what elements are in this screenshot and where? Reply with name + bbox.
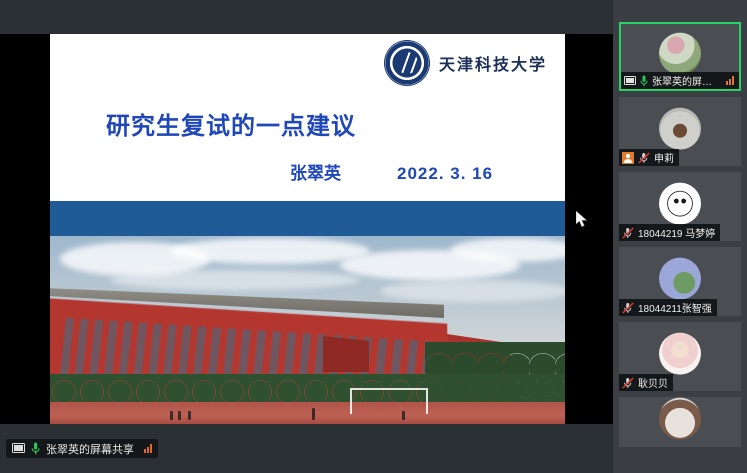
- campus-photo: [50, 236, 565, 424]
- microphone-icon: [31, 442, 40, 455]
- university-crest-icon: [384, 40, 430, 86]
- sketch-face-avatar: [659, 182, 701, 224]
- person-figure: [188, 411, 191, 420]
- slide-title: 研究生复试的一点建议: [106, 106, 356, 141]
- slide-header-area: 天津科技大学 研究生复试的一点建议 张翠英 2022. 3. 16: [50, 34, 565, 201]
- participant-name-1: 申莉: [654, 150, 674, 165]
- microphone-on-icon: [640, 75, 648, 87]
- frog-moon-avatar: [659, 257, 701, 299]
- flower-bouquet-avatar: [659, 32, 701, 74]
- participant-tile-0[interactable]: 张翠英的屏幕...: [619, 22, 741, 91]
- signal-bars-icon: [722, 76, 734, 85]
- signal-bars-icon: [140, 444, 152, 453]
- person-figure: [170, 411, 173, 420]
- microphone-muted-icon: [622, 377, 634, 389]
- running-track: [50, 402, 565, 424]
- shared-screen-stage[interactable]: 天津科技大学 研究生复试的一点建议 张翠英 2022. 3. 16: [0, 34, 613, 424]
- bottom-taskbar: 张翠英的屏幕共享: [0, 424, 613, 473]
- person-avatar: [659, 398, 701, 440]
- microphone-muted-icon: [622, 227, 634, 239]
- participant-tile-1[interactable]: 申莉: [619, 97, 741, 166]
- participant-name-2: 18044219 马梦婷: [638, 225, 715, 240]
- host-person-icon: [622, 152, 634, 164]
- portrait-avatar: [659, 107, 701, 149]
- screen-share-status[interactable]: 张翠英的屏幕共享: [6, 439, 158, 458]
- participant-label-bar-3: 18044211张智强: [619, 299, 717, 316]
- person-figure: [178, 411, 181, 420]
- presentation-slide: 天津科技大学 研究生复试的一点建议 张翠英 2022. 3. 16: [50, 34, 565, 424]
- meeting-window: 天津科技大学 研究生复试的一点建议 张翠英 2022. 3. 16: [0, 0, 747, 473]
- university-logo-text: 天津科技大学: [439, 51, 547, 75]
- participant-tile-4[interactable]: 耿贝贝: [619, 322, 741, 391]
- microphone-muted-icon: [622, 302, 634, 314]
- slide-author: 张翠英: [290, 159, 341, 184]
- screen-share-label: 张翠英的屏幕共享: [46, 441, 134, 457]
- cloud: [380, 280, 565, 302]
- participant-label-bar-1: 申莉: [619, 149, 679, 166]
- participant-tile-3[interactable]: 18044211张智强: [619, 247, 741, 316]
- slide-date: 2022. 3. 16: [397, 164, 493, 184]
- participant-label-bar-2: 18044219 马梦婷: [619, 224, 720, 241]
- university-logo: 天津科技大学: [384, 40, 547, 86]
- slide-byline: 张翠英 2022. 3. 16: [290, 159, 493, 184]
- slide-accent-band: [50, 201, 565, 236]
- participant-rail[interactable]: 张翠英的屏幕...: [613, 0, 747, 473]
- top-strip: [0, 0, 613, 34]
- person-figure: [402, 411, 405, 420]
- participant-label-bar-0: 张翠英的屏幕...: [621, 72, 739, 89]
- cloud: [170, 238, 370, 264]
- participant-tile-2[interactable]: 18044219 马梦婷: [619, 172, 741, 241]
- person-figure: [312, 408, 315, 420]
- cloud: [110, 270, 360, 290]
- participant-name-3: 18044211张智强: [638, 300, 712, 315]
- participant-name-0: 张翠英的屏幕...: [652, 73, 718, 88]
- baby-photo-avatar: [659, 332, 701, 374]
- participant-label-bar-4: 耿贝贝: [619, 374, 673, 391]
- screen-share-icon: [624, 76, 636, 86]
- microphone-muted-icon: [638, 152, 650, 164]
- participant-tile-5[interactable]: [619, 397, 741, 447]
- monitor-icon: [12, 443, 25, 454]
- participant-name-4: 耿贝贝: [638, 375, 668, 390]
- soccer-goal: [350, 388, 428, 414]
